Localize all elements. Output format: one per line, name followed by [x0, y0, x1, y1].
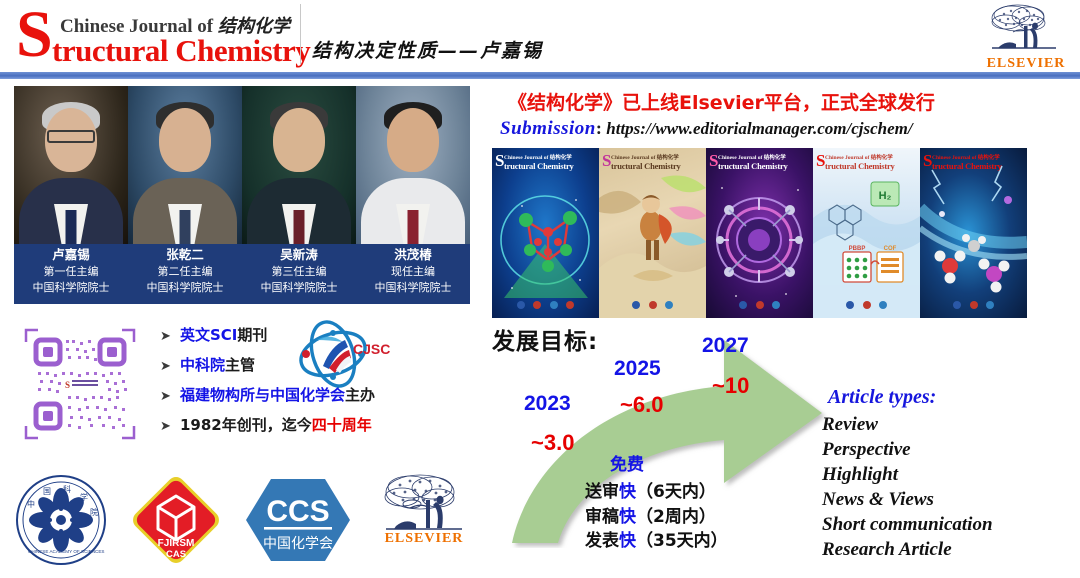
fjirsm-logo-icon: FJIRSM CAS [130, 474, 222, 566]
header-elsevier-logo: ELSEVIER [980, 2, 1072, 70]
submission-colon: : [596, 118, 602, 138]
editor-photo [14, 86, 128, 244]
editors-panel: 卢嘉锡 第一任主编 中国科学院院士 张乾二 第二任主编 中国科学院院士 吴新涛 … [14, 86, 470, 304]
journal-cover[interactable]: H₂ PBBP COF S Chinese Journal of 结构化学 tr… [813, 148, 920, 318]
free-publication-label: 免费 [610, 450, 644, 475]
list-item: 审稿快（2周内） [585, 505, 728, 530]
glasses-icon [47, 130, 95, 143]
bullet-highlight: 中科院 [180, 356, 225, 374]
turnaround-stage: 送审 [585, 482, 619, 502]
svg-text:COF: COF [884, 246, 897, 252]
editor-affiliation: 中国科学院院士 [242, 280, 356, 295]
elsevier-tree-icon [980, 2, 1072, 54]
cover-title-main: tructural Chemistry [611, 162, 702, 171]
bullet-text: 主管 [225, 356, 255, 374]
ccs-logo: CCS 中国化学会 [244, 477, 352, 563]
submission-url[interactable]: https://www.editorialmanager.com/cjschem… [606, 119, 912, 138]
svg-text:院: 院 [90, 507, 98, 517]
editor-photo [356, 86, 470, 244]
journal-cover[interactable]: S Chinese Journal of 结构化学 tructural Chem… [492, 148, 599, 318]
masthead-divider [300, 4, 301, 64]
list-item: Review [822, 412, 993, 437]
journal-cover[interactable]: S Chinese Journal of 结构化学 tructural Chem… [920, 148, 1027, 318]
turnaround-duration: （2周内） [636, 507, 716, 527]
cover-badges [599, 296, 706, 314]
cover-title-main: tructural Chemistry [825, 162, 916, 171]
cover-artwork [492, 148, 599, 318]
bullet-highlight: 英文SCI [180, 326, 237, 344]
cas-logo-icon: 中 国 科 学 院 CHINESE ACADEMY OF SCIENCES [14, 473, 108, 567]
goal-value: ~6.0 [620, 392, 663, 418]
cover-title-main: tructural Chemistry [932, 162, 1023, 171]
cover-artwork: H₂ PBBP COF [813, 148, 920, 318]
page-header: S Chinese Journal of 结构化学 tructural Chem… [0, 0, 1080, 78]
goal-year: 2023 [524, 392, 571, 416]
editor-affiliation: 中国科学院院士 [128, 280, 242, 295]
svg-text:国: 国 [43, 487, 51, 496]
elsevier-wordmark: ELSEVIER [980, 56, 1072, 72]
list-item: ➤ 1982年创刊，迄今四十周年 [160, 414, 470, 435]
editor-photo [128, 86, 242, 244]
turnaround-duration: （6天内） [636, 482, 716, 502]
editor-role: 第二任主编 [128, 264, 242, 279]
journal-cover[interactable]: S Chinese Journal of 结构化学 tructural Chem… [706, 148, 813, 318]
editor-affiliation: 中国科学院院士 [14, 280, 128, 295]
list-item: Short communication [822, 512, 993, 537]
submission-line: Submission: https://www.editorialmanager… [500, 118, 913, 140]
list-item: Perspective [822, 437, 993, 462]
turnaround-list: 送审快（6天内） 审稿快（2周内） 发表快（35天内） [585, 480, 728, 554]
editor-name: 吴新涛 [242, 246, 356, 264]
svg-text:学: 学 [80, 492, 88, 502]
turnaround-duration: （35天内） [636, 531, 728, 551]
cover-badges [920, 296, 1027, 314]
elsevier-tree-icon: ELSEVIER [374, 470, 474, 544]
svg-text:中: 中 [27, 499, 35, 509]
article-types-title: Article types: [828, 386, 936, 409]
cover-title-main: tructural Chemistry [718, 162, 809, 171]
cover-badges [813, 296, 920, 314]
editor-role: 现任主编 [356, 264, 470, 279]
svg-text:H₂: H₂ [879, 190, 892, 202]
editor-photo [242, 86, 356, 244]
header-accent-bar [0, 72, 1080, 79]
qr-code-icon: S [18, 322, 142, 446]
ccs-wordmark: CCS [266, 495, 329, 528]
list-item: 送审快（6天内） [585, 480, 728, 505]
svg-text:科: 科 [63, 484, 71, 494]
cover-artwork [599, 148, 706, 318]
masthead-initial: S [16, 2, 51, 68]
editor-caption: 吴新涛 第三任主编 中国科学院院士 [242, 244, 356, 304]
svg-text:PBBP: PBBP [849, 246, 866, 252]
editor-name: 卢嘉锡 [14, 246, 128, 264]
cover-title-main: tructural Chemistry [504, 162, 595, 171]
editor-name: 洪茂椿 [356, 246, 470, 264]
goal-value: ~3.0 [531, 430, 574, 456]
list-item: Research Article [822, 537, 993, 562]
cas-logo: 中 国 科 学 院 CHINESE ACADEMY OF SCIENCES [14, 473, 108, 567]
submission-label: Submission [500, 118, 596, 139]
turnaround-fast: 快 [619, 507, 636, 527]
cover-badges [492, 296, 599, 314]
bullet-arrow-icon: ➤ [160, 419, 180, 434]
svg-text:CAS: CAS [166, 549, 186, 560]
bullet-arrow-icon: ➤ [160, 329, 180, 344]
list-item: Highlight [822, 462, 993, 487]
journal-cover[interactable]: S Chinese Journal of 结构化学 tructural Chem… [599, 148, 706, 318]
turnaround-stage: 审稿 [585, 507, 619, 527]
ccs-logo-icon: CCS 中国化学会 [244, 477, 352, 563]
editor-caption: 卢嘉锡 第一任主编 中国科学院院士 [14, 244, 128, 304]
cover-artwork [706, 148, 813, 318]
bullet-text: 期刊 [237, 326, 267, 344]
list-item: News & Views [822, 487, 993, 512]
editor-role: 第三任主编 [242, 264, 356, 279]
bullet-text: 1982年创刊，迄今 [180, 416, 312, 434]
svg-text:S: S [65, 380, 70, 390]
turnaround-fast: 快 [619, 482, 636, 502]
editor-photo-strip [14, 86, 470, 244]
svg-text:CJSC: CJSC [353, 341, 390, 357]
list-item: 发表快（35天内） [585, 529, 728, 554]
goal-year: 2025 [614, 357, 661, 381]
svg-text:ELSEVIER: ELSEVIER [385, 531, 464, 544]
cjsc-logo-icon: CJSC [293, 320, 391, 392]
bullet-arrow-icon: ➤ [160, 359, 180, 374]
turnaround-stage: 发表 [585, 531, 619, 551]
article-types-list: Review Perspective Highlight News & View… [822, 412, 993, 562]
bullet-emphasis: 四十周年 [312, 416, 372, 434]
editor-caption: 洪茂椿 现任主编 中国科学院院士 [356, 244, 470, 304]
bullet-arrow-icon: ➤ [160, 389, 180, 404]
svg-text:FJIRSM: FJIRSM [158, 538, 195, 549]
masthead-tagline: 结构决定性质——卢嘉锡 [312, 36, 543, 63]
goal-year: 2027 [702, 334, 749, 358]
editor-name: 张乾二 [128, 246, 242, 264]
turnaround-fast: 快 [619, 531, 636, 551]
partner-logos: 中 国 科 学 院 CHINESE ACADEMY OF SCIENCES FJ… [14, 468, 474, 572]
journal-cover-strip: S Chinese Journal of 结构化学 tructural Chem… [492, 148, 1027, 318]
editor-caption: 张乾二 第二任主编 中国科学院院士 [128, 244, 242, 304]
cover-artwork [920, 148, 1027, 318]
journal-masthead: S Chinese Journal of 结构化学 tructural Chem… [16, 4, 306, 68]
goal-value: ~10 [712, 373, 749, 399]
editor-affiliation: 中国科学院院士 [356, 280, 470, 295]
cjsc-logo: CJSC [293, 320, 391, 392]
editor-role: 第一任主编 [14, 264, 128, 279]
masthead-line-two: tructural Chemistry [52, 33, 310, 69]
qr-code[interactable]: S [18, 322, 142, 446]
announcement-headline: 《结构化学》已上线Elsevier平台，正式全球发行 [508, 88, 935, 115]
goals-title: 发展目标: [492, 322, 598, 356]
fjirsm-logo: FJIRSM CAS [130, 474, 222, 566]
elsevier-logo-bottom: ELSEVIER [374, 470, 474, 570]
editor-caption-strip: 卢嘉锡 第一任主编 中国科学院院士 张乾二 第二任主编 中国科学院院士 吴新涛 … [14, 244, 470, 304]
cover-badges [706, 296, 813, 314]
svg-text:中国化学会: 中国化学会 [263, 536, 333, 552]
svg-text:CHINESE ACADEMY OF SCIENCES: CHINESE ACADEMY OF SCIENCES [28, 549, 105, 554]
